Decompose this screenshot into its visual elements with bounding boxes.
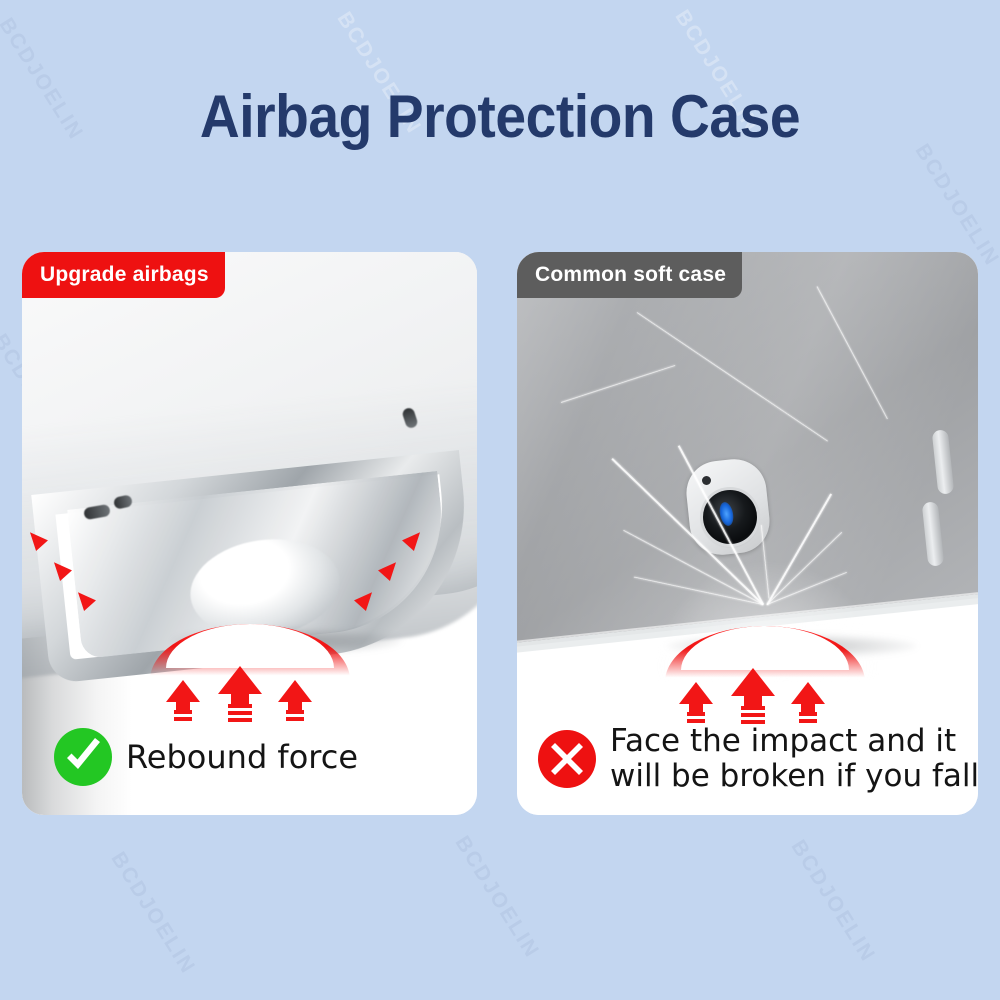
caption-rebound-force: Rebound force: [54, 728, 358, 786]
impact-arrow: [731, 668, 775, 724]
rebound-arrow: [278, 680, 312, 724]
watermark-text: BCDJOELIN: [450, 832, 544, 963]
watermark-text: BCDJOELIN: [786, 836, 880, 967]
rebound-arrow: [166, 680, 200, 724]
check-circle-icon: [54, 728, 112, 786]
caption-line-2: will be broken if you fall: [610, 759, 979, 794]
impact-arrow: [791, 682, 825, 726]
caption-line-1: Face the impact and it: [610, 724, 979, 759]
badge-upgrade-airbags: Upgrade airbags: [22, 252, 225, 298]
caption-text: Rebound force: [126, 739, 358, 775]
caption-face-the-impact: Face the impact and it will be broken if…: [538, 724, 979, 794]
camera-microphone-dot: [702, 476, 711, 485]
badge-common-soft-case: Common soft case: [517, 252, 742, 298]
page-title: Airbag Protection Case: [40, 82, 960, 151]
caption-text: Face the impact and it will be broken if…: [610, 724, 979, 794]
rebound-arrow: [218, 666, 262, 722]
impact-arrow: [679, 682, 713, 726]
watermark-text: BCDJOELIN: [106, 848, 200, 979]
caption-line-1: Rebound force: [126, 738, 358, 776]
cross-circle-icon: [538, 730, 596, 788]
